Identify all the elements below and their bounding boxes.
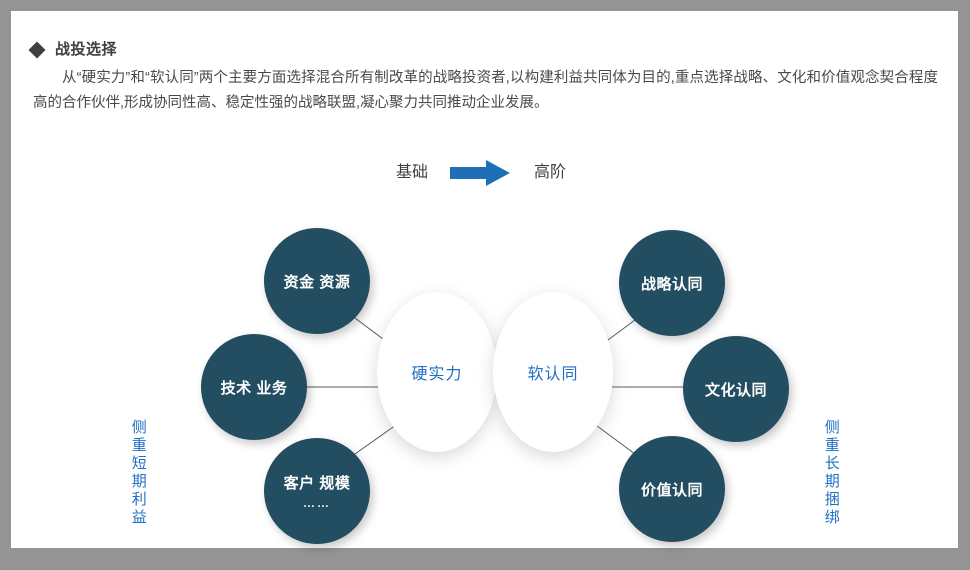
node-customer-label: 客户 规模 bbox=[284, 472, 351, 493]
caption-short-term: 侧重短期利益 bbox=[130, 419, 146, 527]
caption-long-term: 侧重长期捆绑 bbox=[823, 419, 839, 527]
node-soft-identity[interactable]: 软认同 bbox=[493, 292, 613, 452]
node-strategy[interactable]: 战略认同 bbox=[619, 230, 725, 336]
node-hard-power-label: 硬实力 bbox=[411, 360, 462, 384]
node-customer-ellipsis: …… bbox=[303, 496, 331, 510]
node-tech[interactable]: 技术 业务 bbox=[201, 334, 307, 440]
node-culture[interactable]: 文化认同 bbox=[683, 336, 789, 442]
node-capital-label: 资金 资源 bbox=[284, 271, 351, 292]
node-hard-power[interactable]: 硬实力 bbox=[377, 292, 497, 452]
node-strategy-label: 战略认同 bbox=[641, 273, 703, 294]
node-value-label: 价值认同 bbox=[641, 479, 703, 500]
node-culture-label: 文化认同 bbox=[705, 379, 767, 400]
node-tech-label: 技术 业务 bbox=[221, 377, 288, 398]
title-text: 战投选择 bbox=[55, 42, 117, 57]
node-capital[interactable]: 资金 资源 bbox=[264, 228, 370, 334]
diamond-bullet-icon bbox=[29, 41, 46, 58]
node-soft-identity-label: 软认同 bbox=[527, 360, 578, 384]
page-title: 战投选择 bbox=[31, 42, 117, 57]
slide-card: 战投选择 从“硬实力”和“软认同”两个主要方面选择混合所有制改革的战略投资者,以… bbox=[11, 11, 958, 548]
node-customer[interactable]: 客户 规模 …… bbox=[264, 438, 370, 544]
venn-diagram: 资金 资源 技术 业务 客户 规模 …… 战略认同 文化认同 价值认同 硬实力 … bbox=[11, 106, 958, 548]
node-value[interactable]: 价值认同 bbox=[619, 436, 725, 542]
